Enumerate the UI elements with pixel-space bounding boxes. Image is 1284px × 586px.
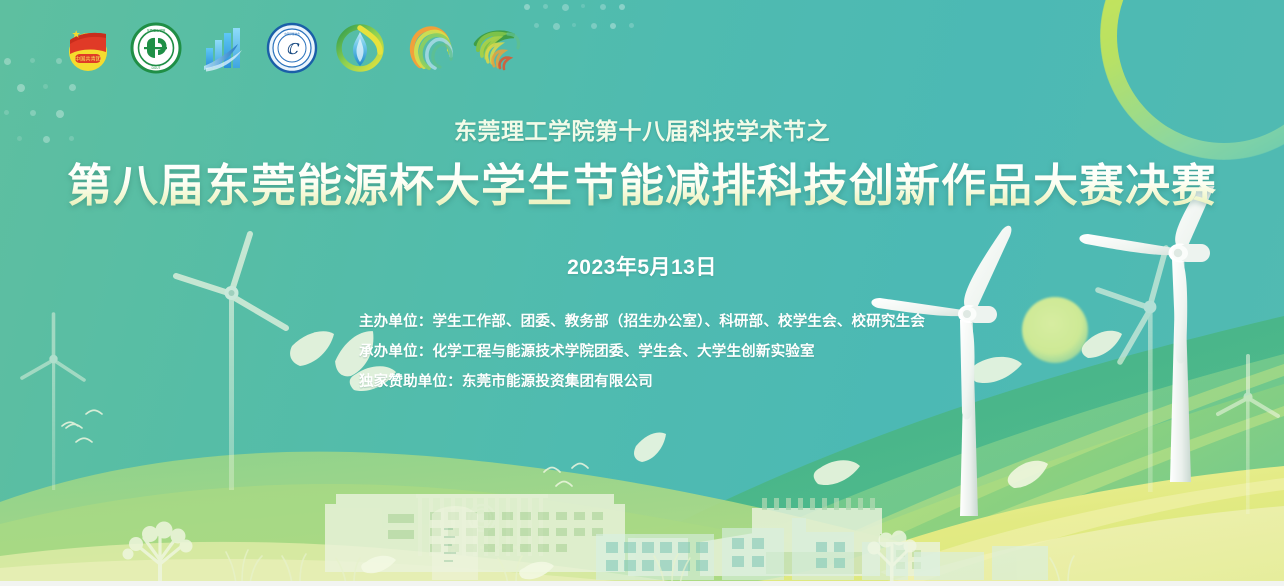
organizer-host: 主办单位：学生工作部、团委、教务部（招生办公室）、科研部、校学生会、校研究生会 bbox=[359, 307, 925, 337]
organizer-coorganizer: 承办单位：化学工程与能源技术学院团委、学生会、大学生创新实验室 bbox=[359, 337, 925, 367]
page-title: 第八届东莞能源杯大学生节能减排科技创新作品大赛决赛 bbox=[0, 162, 1284, 211]
text-block: 东莞理工学院第十八届科技学术节之 第八届东莞能源杯大学生节能减排科技创新作品大赛… bbox=[0, 0, 1284, 397]
bottom-edge-strip bbox=[0, 581, 1284, 586]
event-date: 2023年5月13日 bbox=[0, 251, 1284, 281]
organizer-sponsor: 独家赞助单位：东莞市能源投资集团有限公司 bbox=[359, 367, 925, 397]
banner-poster: 中国共青团 东莞理工学院 DGUT bbox=[0, 0, 1284, 586]
organizer-list: 主办单位：学生工作部、团委、教务部（招生办公室）、科研部、校学生会、校研究生会 … bbox=[359, 307, 925, 397]
kicker-title: 东莞理工学院第十八届科技学术节之 bbox=[0, 112, 1284, 146]
